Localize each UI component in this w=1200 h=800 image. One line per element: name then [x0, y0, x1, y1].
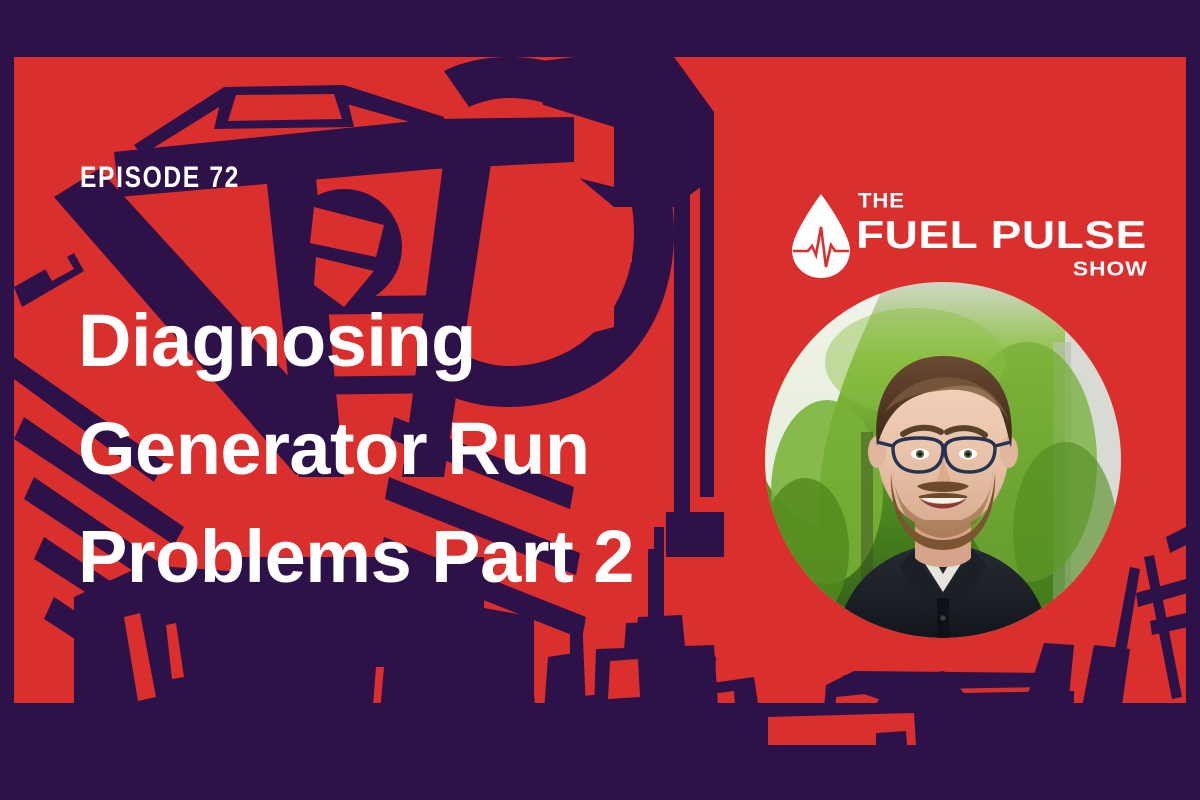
show-logo-the: THE: [858, 191, 905, 212]
show-logo: THE FUEL PULSE SHOW: [790, 185, 1150, 285]
host-portrait: [765, 282, 1121, 638]
episode-title-line-3: Problems Part 2: [78, 503, 778, 611]
show-logo-name: FUEL PULSE: [856, 215, 1147, 254]
cover-stage: EPISODE 72 Diagnosing Generator Run Prob…: [14, 57, 1186, 745]
show-logo-wordmark: THE FUEL PULSE SHOW: [858, 185, 1150, 285]
episode-label: EPISODE 72: [80, 163, 240, 193]
episode-cover-canvas: EPISODE 72 Diagnosing Generator Run Prob…: [0, 0, 1200, 800]
show-logo-show: SHOW: [1073, 259, 1148, 280]
host-portrait-image: [765, 282, 1121, 638]
episode-title: Diagnosing Generator Run Problems Part 2: [78, 287, 778, 611]
fuel-droplet-pulse-icon: [790, 193, 852, 279]
episode-title-line-1: Diagnosing: [78, 287, 778, 395]
episode-title-line-2: Generator Run: [78, 395, 778, 503]
